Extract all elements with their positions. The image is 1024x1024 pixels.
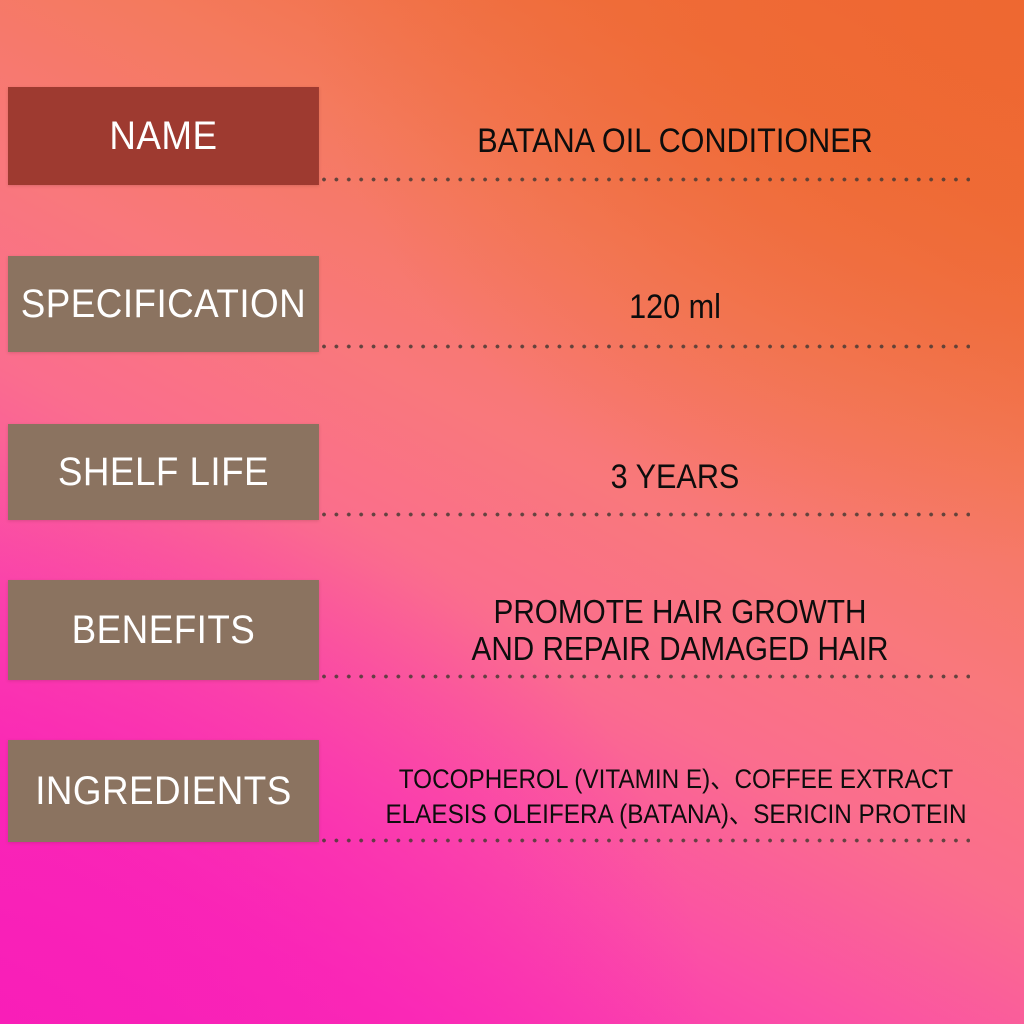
value-line: PROMOTE HAIR GROWTH <box>365 594 995 631</box>
label-text-ingredients: INGREDIENTS <box>35 771 292 811</box>
value-line: ELAESIS OLEIFERA (BATANA)、SERICIN PROTEI… <box>354 797 998 832</box>
label-box-ingredients: INGREDIENTS <box>8 740 319 842</box>
value-line: 3 YEARS <box>365 458 986 496</box>
value-ingredients: TOCOPHEROL (VITAMIN E)、COFFEE EXTRACT EL… <box>354 762 998 831</box>
value-benefits: PROMOTE HAIR GROWTH AND REPAIR DAMAGED H… <box>365 594 995 668</box>
value-line: TOCOPHEROL (VITAMIN E)、COFFEE EXTRACT <box>354 762 998 797</box>
label-text-specification: SPECIFICATION <box>21 284 306 324</box>
label-box-benefits: BENEFITS <box>8 580 319 680</box>
dotted-separator <box>322 674 970 679</box>
label-box-shelf-life: SHELF LIFE <box>8 424 319 520</box>
value-line: 120 ml <box>365 288 986 326</box>
value-line: AND REPAIR DAMAGED HAIR <box>365 631 995 668</box>
value-shelf-life: 3 YEARS <box>365 458 986 496</box>
label-text-shelf-life: SHELF LIFE <box>58 452 269 492</box>
dotted-separator <box>322 512 970 517</box>
dotted-separator <box>322 344 970 349</box>
dotted-separator <box>322 177 970 182</box>
label-text-name: NAME <box>109 116 217 156</box>
value-line: BATANA OIL CONDITIONER <box>365 122 986 160</box>
value-name: BATANA OIL CONDITIONER <box>365 122 986 160</box>
label-text-benefits: BENEFITS <box>72 610 256 650</box>
label-box-specification: SPECIFICATION <box>8 256 319 352</box>
product-spec-poster: NAME BATANA OIL CONDITIONER SPECIFICATIO… <box>0 0 1024 1024</box>
value-specification: 120 ml <box>365 288 986 326</box>
label-box-name: NAME <box>8 87 319 185</box>
dotted-separator <box>322 838 970 843</box>
